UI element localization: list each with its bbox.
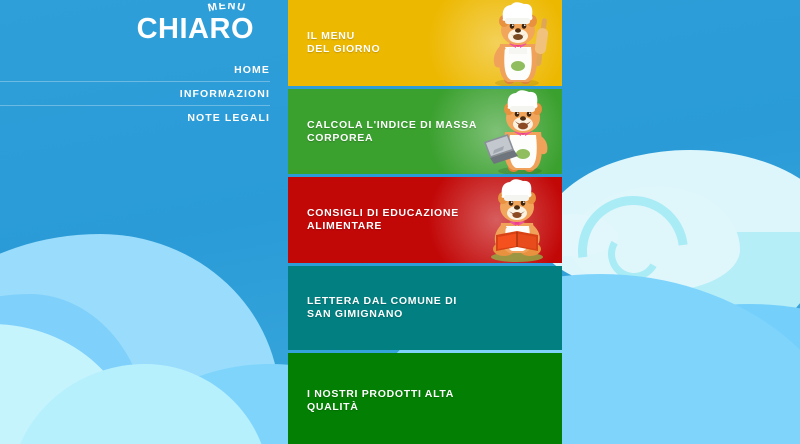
banner-title: I NOSTRI PRODOTTI ALTA QUALITÀ (288, 388, 454, 414)
banner-title: CONSIGLI DI EDUCAZIONE ALIMENTARE (288, 207, 459, 233)
banner-title: LETTERA DAL COMUNE DI SAN GIMIGNANO (288, 295, 457, 321)
nav-item-informazioni[interactable]: INFORMAZIONI (0, 81, 270, 105)
banner-title: IL MENU DEL GIORNO (288, 30, 380, 56)
logo-arc-text: MENU (188, 3, 266, 21)
banner-lettera-comune-san-gimignano[interactable]: LETTERA DAL COMUNE DI SAN GIMIGNANO (288, 266, 562, 350)
chef-squirrel-rolling-pin-icon (478, 0, 556, 86)
banner-nostri-prodotti-alta-qualita[interactable]: I NOSTRI PRODOTTI ALTA QUALITÀ (288, 353, 562, 444)
site-logo[interactable]: MENU CHIARO (0, 2, 288, 46)
banner-list: IL MENU DEL GIORNO (288, 0, 562, 444)
page-root: MENU CHIARO HOME INFORMAZIONI NOTE LEGAL… (0, 0, 800, 444)
banner-title: CALCOLA L'INDICE DI MASSA CORPOREA (288, 119, 477, 145)
svg-text:MENU: MENU (207, 3, 248, 14)
nav-item-note-legali[interactable]: NOTE LEGALI (0, 105, 270, 129)
banner-il-menu-del-giorno[interactable]: IL MENU DEL GIORNO (288, 0, 562, 86)
chef-squirrel-book-icon (478, 177, 556, 263)
chef-squirrel-laptop-icon (478, 89, 556, 174)
logo-top-word: MENU (207, 3, 248, 14)
left-column: MENU CHIARO HOME INFORMAZIONI NOTE LEGAL… (0, 0, 288, 129)
nav-item-home[interactable]: HOME (0, 58, 270, 81)
banner-consigli-educazione-alimentare[interactable]: CONSIGLI DI EDUCAZIONE ALIMENTARE (288, 177, 562, 263)
main-navigation: HOME INFORMAZIONI NOTE LEGALI (0, 58, 288, 129)
banner-calcola-indice-massa-corporea[interactable]: CALCOLA L'INDICE DI MASSA CORPOREA (288, 89, 562, 174)
